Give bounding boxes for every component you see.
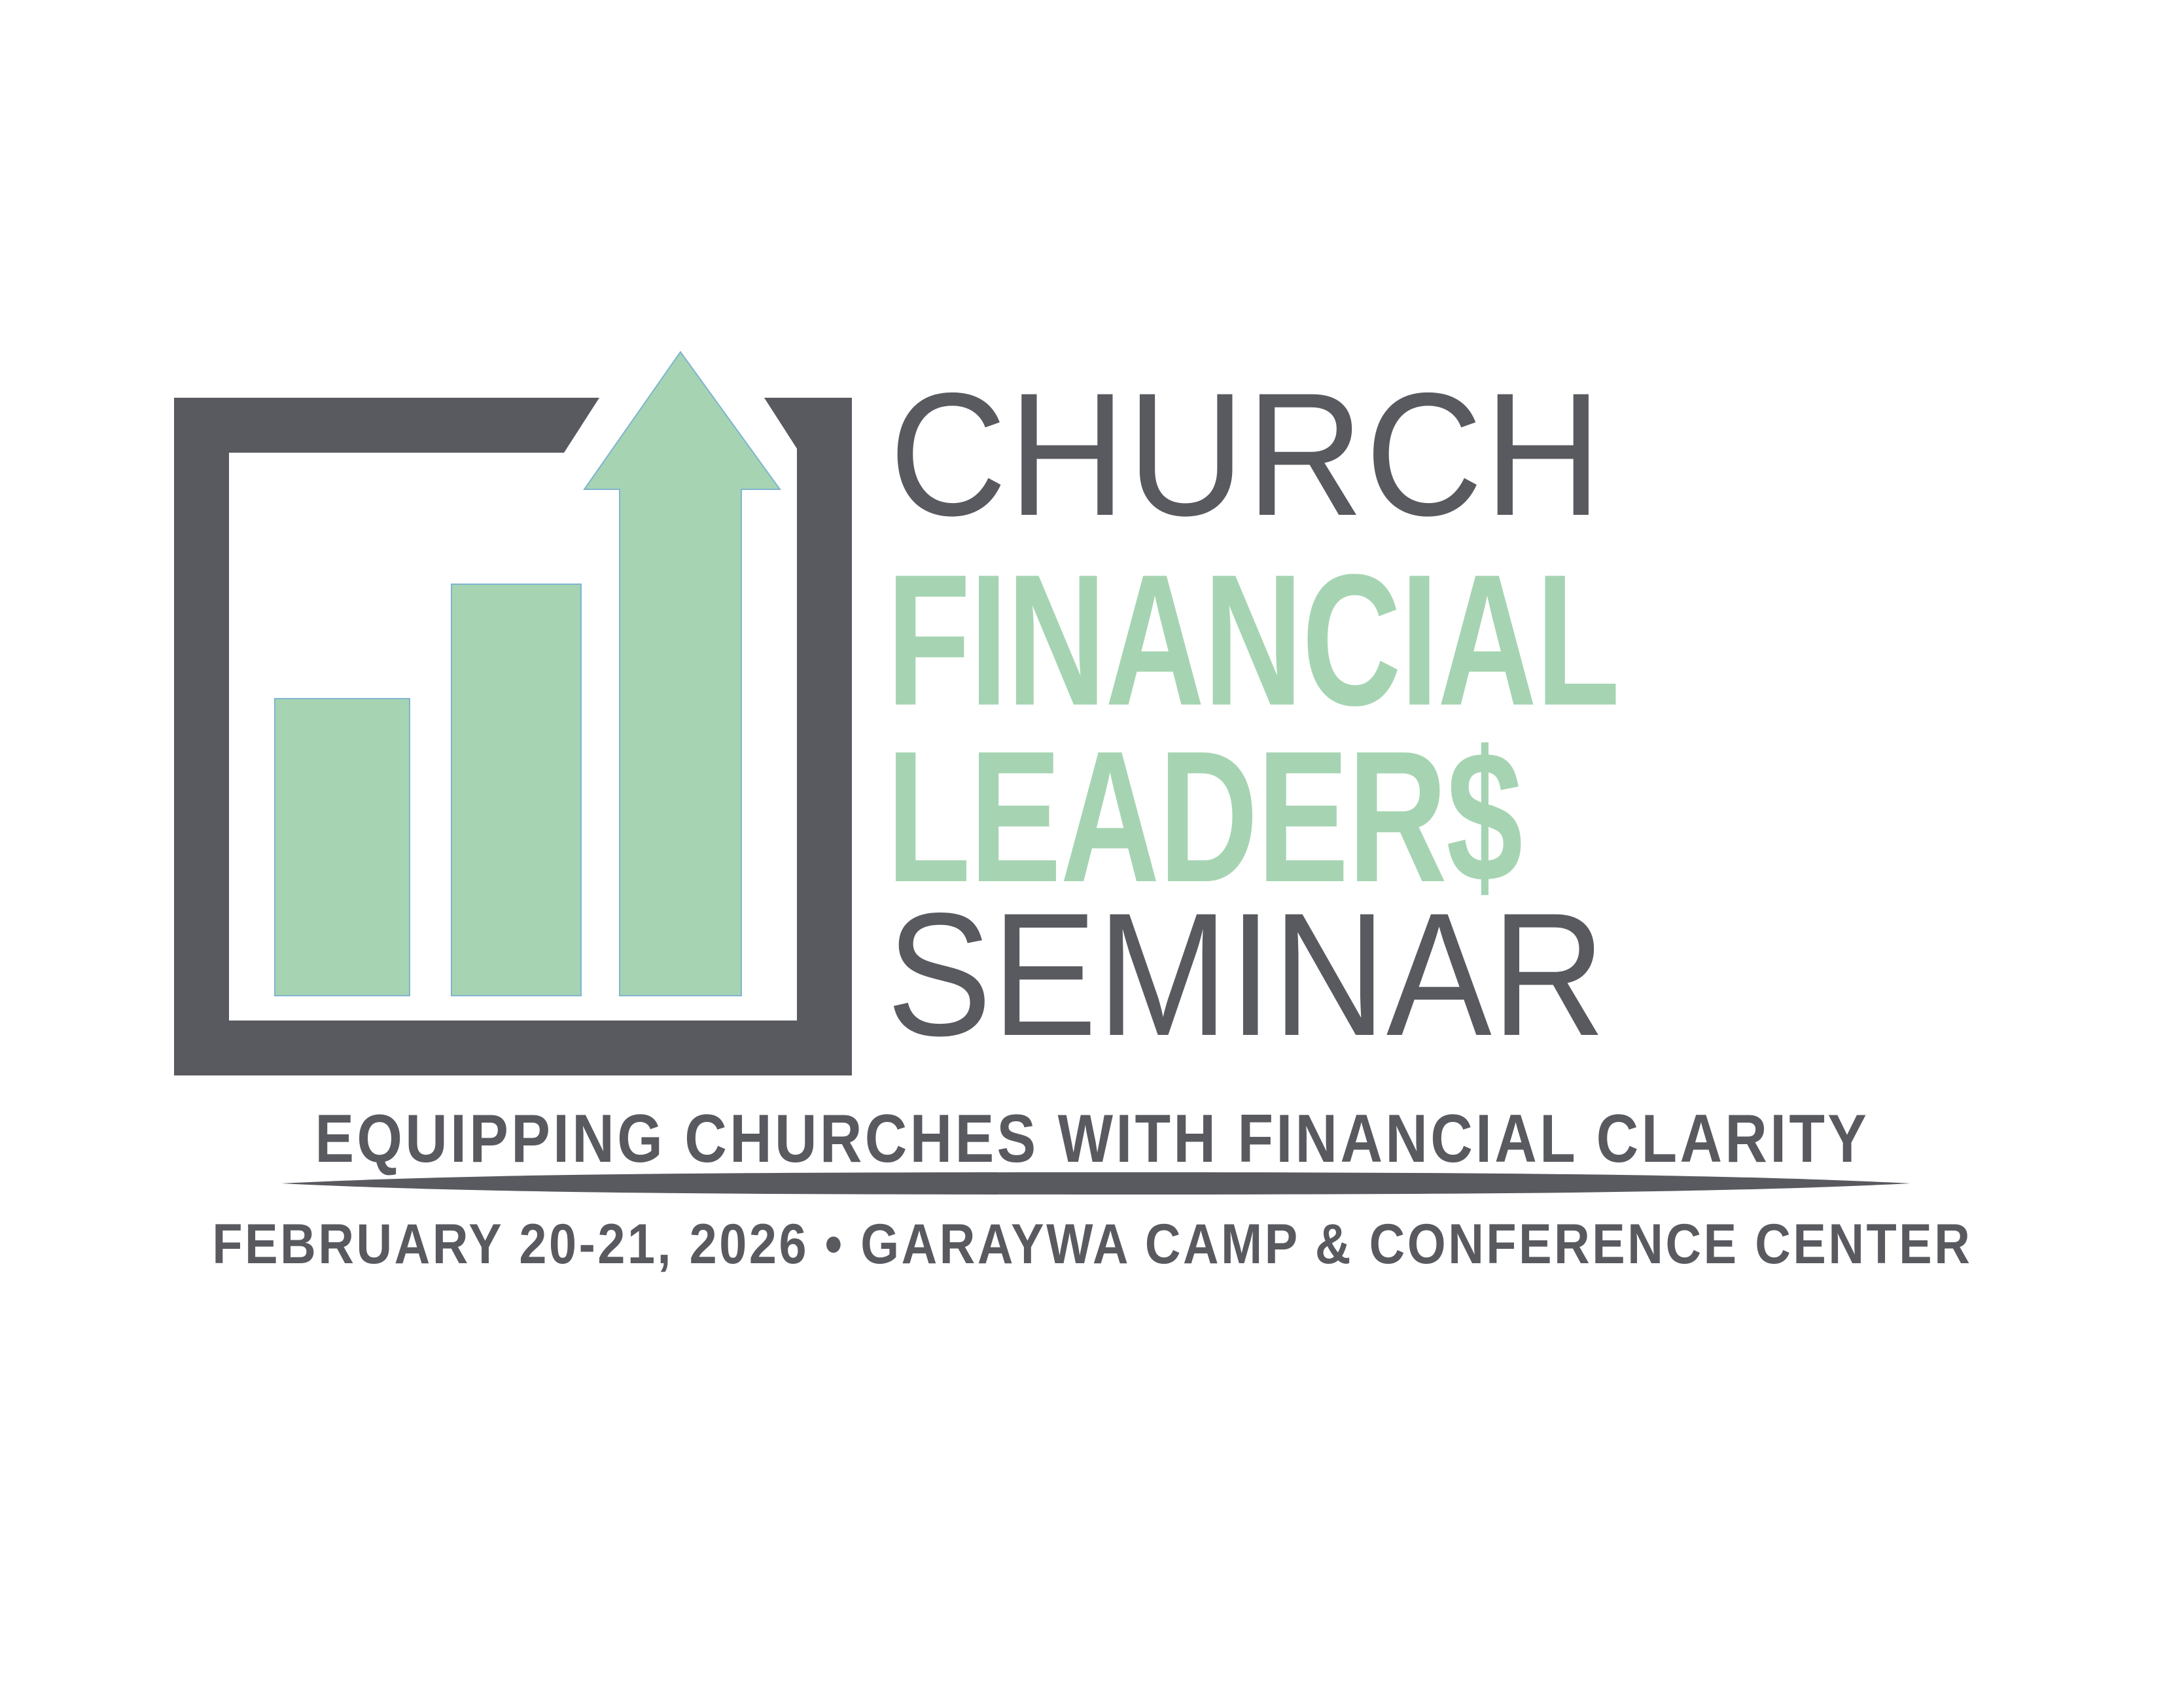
event-details: FEBRUARY 20-21, 2026 • GARAYWA CAMP & CO… bbox=[0, 1213, 2184, 1275]
event-details-text: FEBRUARY 20-21, 2026 • GARAYWA CAMP & CO… bbox=[212, 1213, 1972, 1275]
wordmark-line-seminar: SEMINAR bbox=[887, 886, 1606, 1062]
wordmark-line-church: CHURCH bbox=[889, 366, 1603, 542]
chart-bar-2 bbox=[451, 584, 581, 996]
tagline: EQUIPPING CHURCHES WITH FINANCIAL CLARIT… bbox=[0, 1102, 2184, 1176]
logo-canvas: CHURCH FINANCIAL LEADER$ SEMINAR EQUIPPI… bbox=[0, 0, 2184, 1693]
up-arrow-icon bbox=[584, 352, 780, 996]
tapered-rule-divider-icon bbox=[281, 1172, 1911, 1195]
logo-mark bbox=[0, 0, 916, 1112]
chart-bar-1 bbox=[275, 699, 410, 996]
wordmark: CHURCH FINANCIAL LEADER$ SEMINAR bbox=[887, 366, 2064, 1112]
wordmark-line-financial: FINANCIAL bbox=[887, 546, 1619, 733]
tagline-text: EQUIPPING CHURCHES WITH FINANCIAL CLARIT… bbox=[315, 1102, 1869, 1176]
